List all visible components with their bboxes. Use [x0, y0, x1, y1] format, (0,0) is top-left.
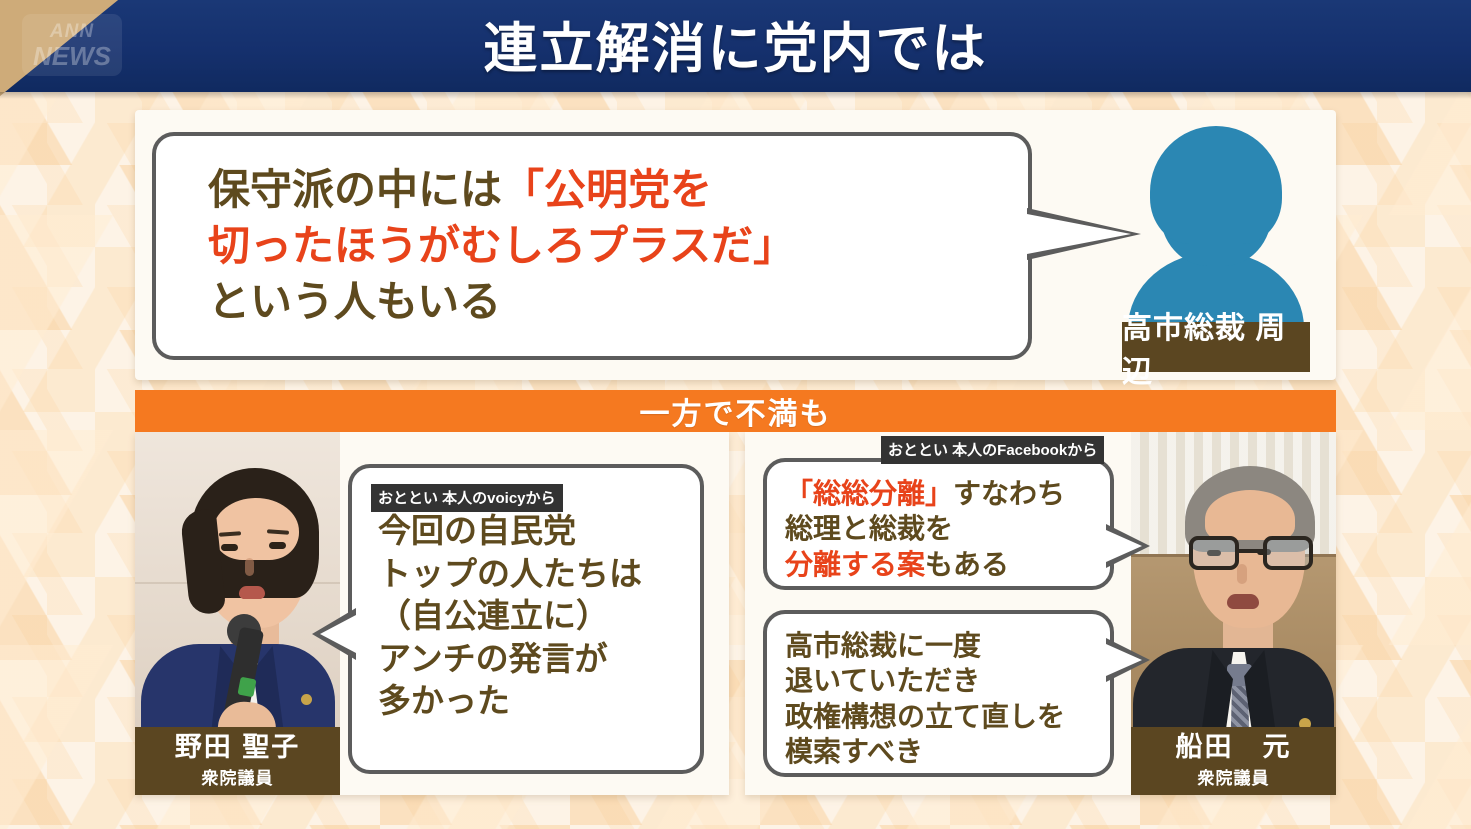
top-quote-line-1-part-1: 保守派の中には — [208, 166, 502, 213]
noda-seiko-photo: 野田 聖子 衆院議員 — [135, 432, 340, 795]
lapel-pin-icon — [301, 694, 312, 705]
right-speech-bubble-1: 「総総分離」すなわち 総理と総裁を 分離する案もある — [763, 458, 1114, 590]
funada-hajime-photo: 船田 元 衆院議員 — [1131, 432, 1336, 795]
right-bubble-2-tail-icon — [1106, 638, 1150, 682]
right-quote1-line-3-part-2: もある — [925, 549, 1009, 580]
right-source-badge: おととい 本人のFacebookから — [881, 436, 1104, 464]
left-quote-line-1: 今回の自民党 — [378, 510, 700, 553]
left-quote-line-3: （自公連立に） — [378, 595, 700, 638]
right-quote2-line-3: 政権構想の立て直しを — [785, 699, 1110, 734]
left-quote-line-5: 多かった — [378, 680, 700, 723]
page-title: 連立解消に党内では — [0, 0, 1471, 86]
left-quote-line-4: アンチの発言が — [378, 638, 700, 681]
right-quote1-line-1: 「総総分離」すなわち — [785, 476, 1110, 511]
left-source-badge: おととい 本人のvoicyから — [371, 484, 563, 512]
right-panel: 船田 元 衆院議員 おととい 本人のFacebookから 「総総分離」すなわち … — [745, 432, 1336, 795]
forehead-shape — [1205, 490, 1295, 540]
mouth-shape — [1227, 594, 1259, 609]
top-quote-card: 保守派の中には「公明党を 切ったほうがむしろプラスだ」 という人もいる 高市総裁… — [135, 110, 1336, 380]
right-quote2-line-4: 模索すべき — [785, 734, 1110, 769]
left-quote-line-2: トップの人たちは — [378, 553, 700, 596]
eye-right — [269, 542, 286, 549]
section-header-bar: 一方で不満も — [135, 390, 1336, 432]
noda-seiko-title: 衆院議員 — [202, 764, 274, 789]
right-quote1-line-3-part-1: 分離する案 — [785, 549, 925, 580]
speech-bubble-tail-icon — [1027, 208, 1141, 260]
left-bubble-tail-icon — [312, 608, 356, 660]
glasses-icon — [1189, 536, 1313, 570]
top-quote-attribution: 高市総裁 周辺 — [1122, 322, 1310, 372]
header-bar: ANN NEWS 連立解消に党内では — [0, 0, 1471, 92]
right-quote2-line-1: 高市総裁に一度 — [785, 628, 1110, 663]
left-panel: 野田 聖子 衆院議員 おととい 本人のvoicyから 今回の自民党 トップの人た… — [135, 432, 729, 795]
funada-hajime-name: 船田 元 — [1176, 733, 1292, 763]
silhouette-figure: 高市総裁 周辺 — [1116, 118, 1316, 372]
news-graphic-stage: ANN NEWS 連立解消に党内では 保守派の中には「公明党を 切ったほうがむし… — [0, 0, 1471, 829]
glasses-lens-right — [1263, 536, 1313, 570]
right-quote1-line-3: 分離する案もある — [785, 547, 1110, 582]
silhouette-hair-icon — [1150, 126, 1282, 244]
right-quote1-line-1-part-1: 「総総分離」 — [785, 478, 953, 509]
header-shadow — [0, 92, 1471, 99]
top-quote-line-2: 切ったほうがむしろプラスだ」 — [208, 218, 1028, 274]
nose-shape — [245, 558, 254, 576]
top-quote-line-1: 保守派の中には「公明党を — [208, 162, 1028, 218]
noda-seiko-caption: 野田 聖子 衆院議員 — [135, 727, 340, 795]
mouth-shape — [239, 586, 265, 599]
glasses-lens-left — [1189, 536, 1239, 570]
right-quote1-line-1-part-2: すなわち — [953, 478, 1065, 509]
funada-hajime-title: 衆院議員 — [1198, 764, 1270, 789]
right-speech-bubble-2: 高市総裁に一度 退いていただき 政権構想の立て直しを 模索すべき — [763, 610, 1114, 777]
top-speech-bubble: 保守派の中には「公明党を 切ったほうがむしろプラスだ」 という人もいる — [152, 132, 1032, 360]
glasses-bridge — [1239, 549, 1263, 553]
right-quote2-line-2: 退いていただき — [785, 663, 1110, 698]
right-bubble-1-tail-icon — [1106, 524, 1150, 568]
microphone-label-icon — [237, 677, 256, 698]
right-quote1-line-2: 総理と総裁を — [785, 511, 1110, 546]
nose-shape — [1237, 564, 1247, 584]
eye-left — [221, 544, 238, 551]
top-quote-line-3: という人もいる — [208, 274, 1028, 330]
top-quote-line-1-part-2: 「公明党を — [502, 166, 712, 213]
noda-seiko-name: 野田 聖子 — [175, 733, 301, 763]
funada-hajime-caption: 船田 元 衆院議員 — [1131, 727, 1336, 795]
